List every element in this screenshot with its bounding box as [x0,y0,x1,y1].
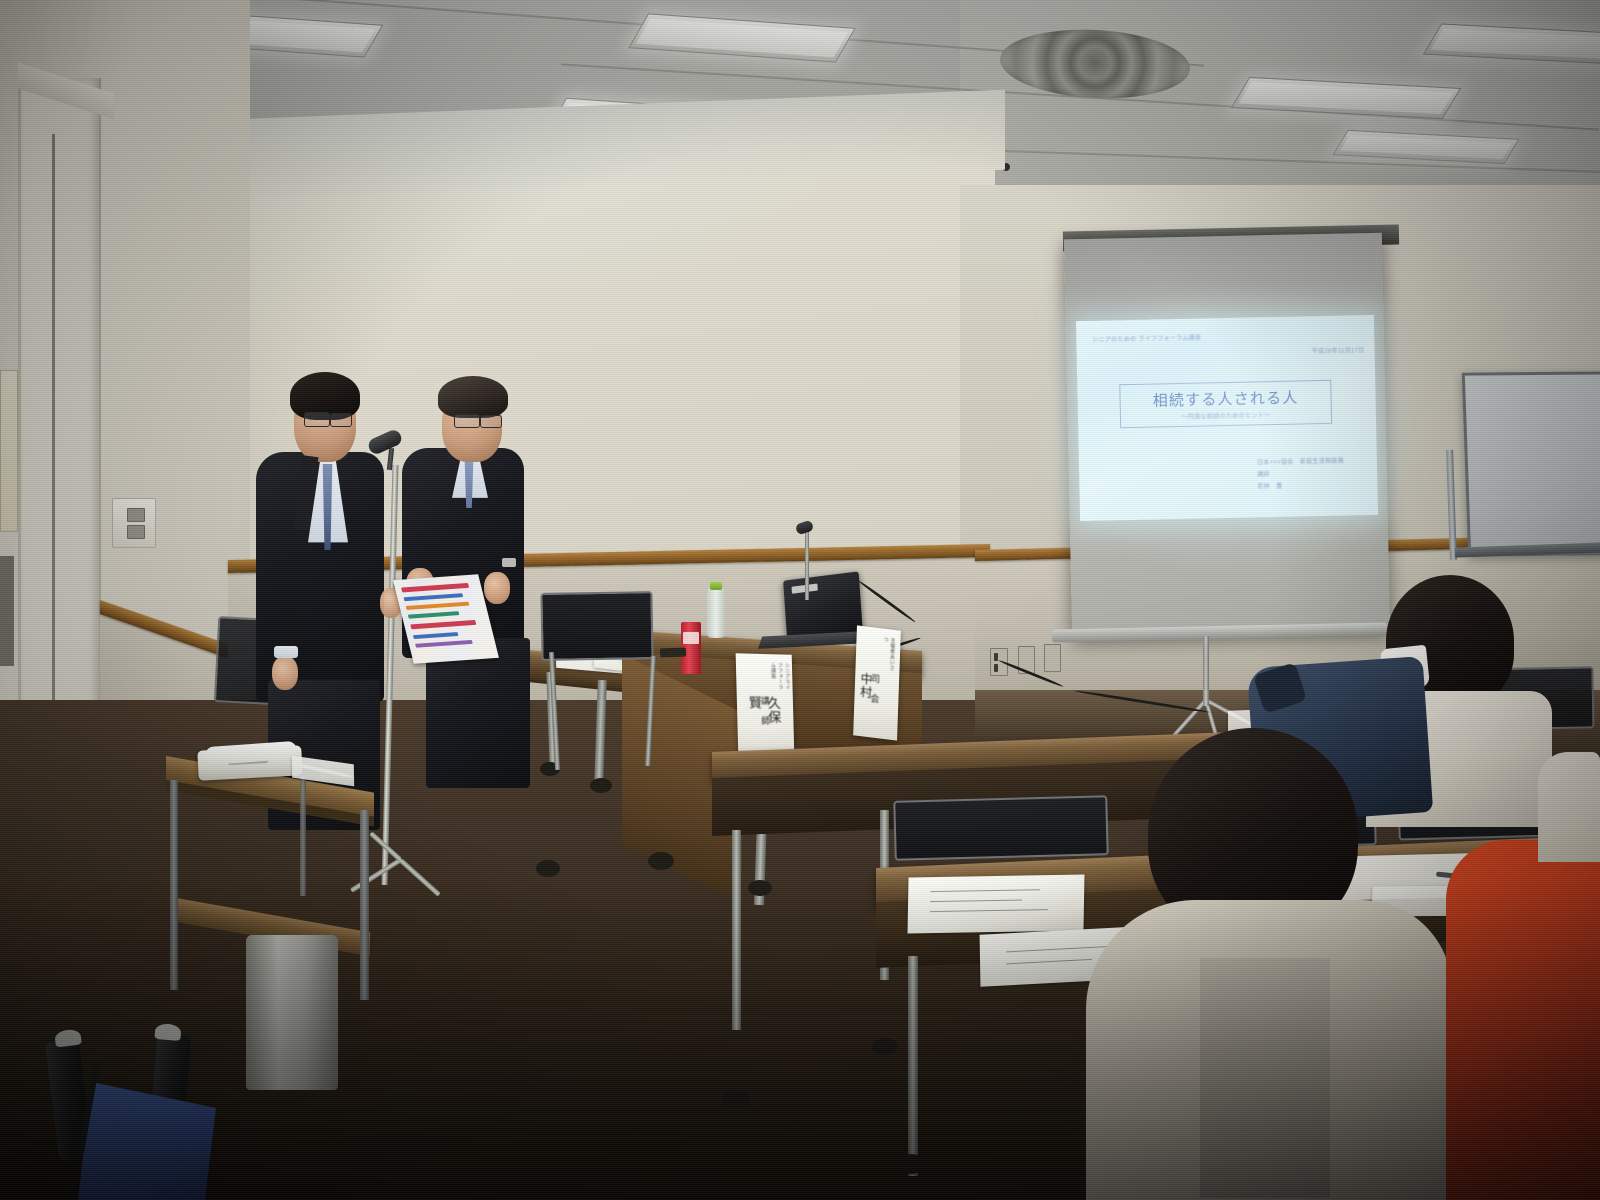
attendee-front-centre [1070,728,1470,1200]
desk-clutter [660,648,686,658]
glasses-icon [330,413,352,427]
whiteboard [1462,371,1600,556]
door-edge [52,134,55,754]
slide-title-box: 相続する人される人 ～円満な相続のためのヒント～ [1119,380,1332,428]
speaker-right [398,368,598,798]
water-bottle [707,588,725,638]
metal-waste-bin [246,935,338,1090]
speaker-placard-right: 主催者あいさつ 司 会 中村 [853,625,901,740]
wall-notice [0,370,18,532]
placard-small-text: シニアライフフォーラム講座 [770,662,792,693]
red-box-label [683,632,699,644]
speaker-placard-left: シニアライフフォーラム講座 講 師 久保 賢 [736,653,795,756]
attendee-far-right-shoulder [1538,752,1600,862]
handout-paper [908,874,1085,933]
desk-leg [732,830,741,1030]
side-table-leg [170,780,178,990]
tripod-post [1203,636,1209,706]
slide-presenter-role: 講師 [1257,469,1270,478]
speaker-left-cuff [274,646,298,658]
glasses-icon [480,415,502,428]
speaker-right-hair [438,376,508,418]
glasses-icon [454,414,480,428]
chair-caster [536,860,560,877]
desk-caster [722,1090,750,1108]
slide-header-right: 平成26年11月17日 [1312,345,1365,355]
room-door[interactable] [18,78,101,768]
seminar-room-photo: シニアのための ライフフォーラム講座 平成26年11月17日 相続する人される人… [0,0,1600,1200]
bottle-cap [710,582,722,590]
desk-microphone [805,530,809,600]
projected-slide: シニアのための ライフフォーラム講座 平成26年11月17日 相続する人される人… [1076,315,1378,521]
placard-name: 久保 賢 [745,695,784,750]
wall-light-switch[interactable] [112,498,156,548]
slide-title: 相続する人される人 [1152,387,1298,411]
slide-header-left: シニアのための ライフフォーラム講座 [1092,333,1201,344]
side-table-leg [300,776,306,896]
glasses-icon [304,412,330,427]
placard-small-text: 主催者あいさつ [881,637,896,673]
vest-shadow [1200,958,1330,1198]
side-table-leg [360,810,369,1000]
chair-caster [648,852,674,870]
slide-presenter-name: 若林 豊 [1257,481,1282,491]
table-caster [748,880,772,896]
desk-leg [908,956,918,1176]
desk-caster [872,1038,898,1055]
speaker-left-hand [272,656,298,690]
placard-name: 中村 [857,672,875,714]
slide-presenter-org: 日本×××協会 家庭生活相談員 [1257,456,1344,467]
wall-panel-dark [0,556,14,666]
wall-power-outlet[interactable] [1044,644,1061,672]
speaker-right-hand [484,572,510,604]
slide-subtitle: ～円満な相続のためのヒント～ [1181,410,1271,421]
desk-caster [896,1154,926,1174]
attendee-far-right [1446,840,1600,1200]
wristwatch [502,558,516,567]
